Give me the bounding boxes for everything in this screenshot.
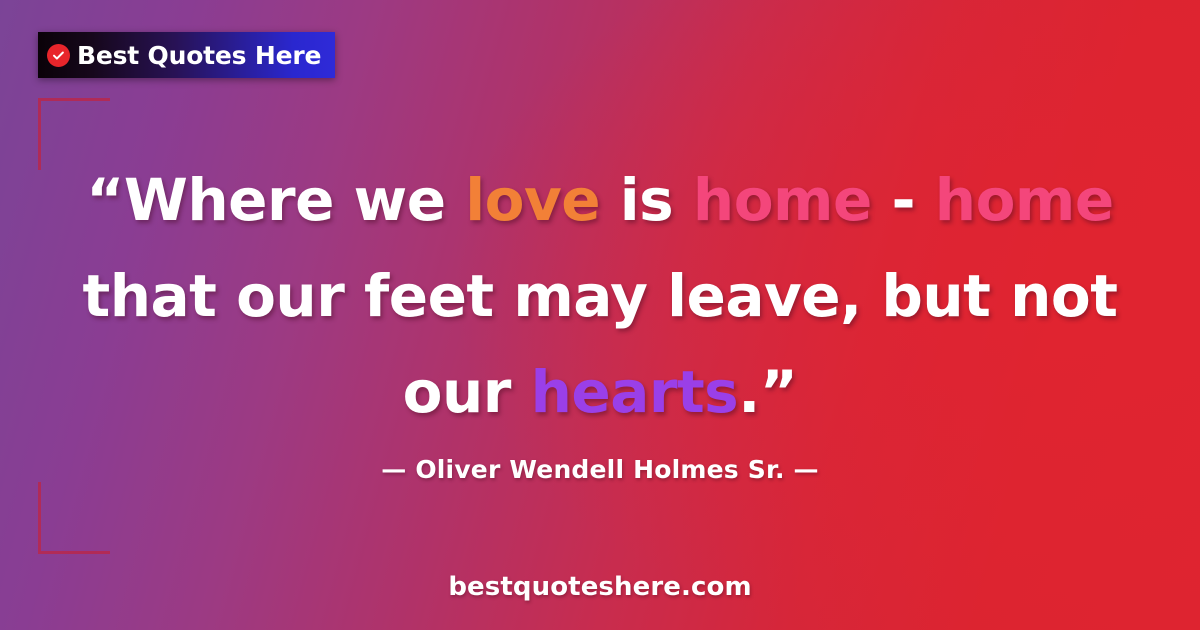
footer-website-url[interactable]: bestquoteshere.com	[0, 572, 1200, 602]
quote-line-1: “Where we love is home - home	[60, 152, 1140, 248]
corner-bracket-bottom-left	[38, 482, 110, 554]
quote-segment: our	[403, 358, 531, 426]
quote-attribution: — Oliver Wendell Holmes Sr. —	[0, 455, 1200, 484]
quote-keyword-home-1: home	[693, 166, 872, 234]
quote-poster: Best Quotes Here “Where we love is home …	[0, 0, 1200, 630]
quote-line-3: our hearts.”	[60, 344, 1140, 440]
quote-segment: “Where we	[86, 166, 465, 234]
quote-segment: -	[872, 166, 935, 234]
quote-keyword-home-2: home	[935, 166, 1114, 234]
quote-segment: that our feet may leave, but not	[83, 262, 1118, 330]
quote-line-2: that our feet may leave, but not	[60, 248, 1140, 344]
quote-text: “Where we love is home - home that our f…	[60, 152, 1140, 440]
quote-segment: .”	[738, 358, 797, 426]
brand-badge-label: Best Quotes Here	[77, 41, 321, 70]
quote-keyword-love: love	[465, 166, 600, 234]
quote-segment: is	[600, 166, 693, 234]
check-circle-icon	[47, 44, 70, 67]
quote-keyword-hearts: hearts	[531, 358, 739, 426]
brand-badge[interactable]: Best Quotes Here	[38, 32, 335, 78]
